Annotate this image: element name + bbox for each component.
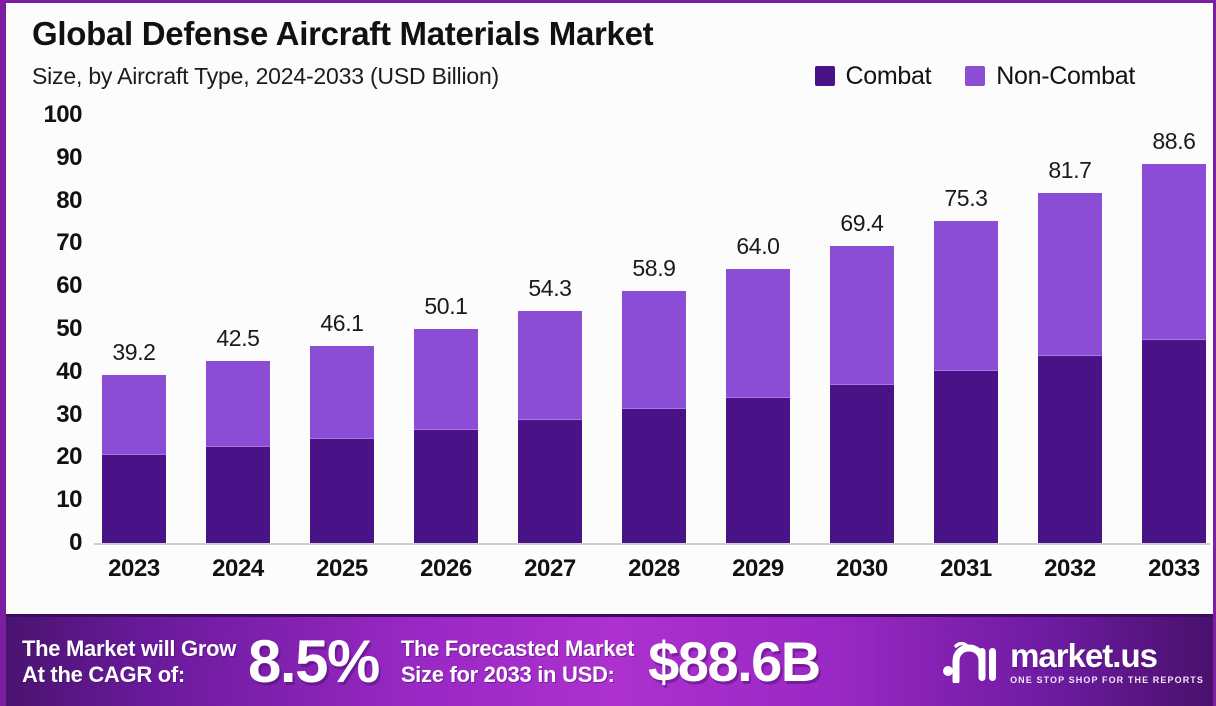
y-axis-tick: 10 xyxy=(56,486,82,514)
bar-segment-combat[interactable] xyxy=(310,439,374,543)
bar-group[interactable]: 75.3 xyxy=(930,115,1002,543)
bar-segment-non-combat[interactable] xyxy=(1142,164,1206,340)
bar-segment-combat[interactable] xyxy=(414,430,478,543)
legend-item-non-combat[interactable]: Non-Combat xyxy=(965,62,1135,91)
forecast-caption-line2: Size for 2033 in USD: xyxy=(401,662,634,688)
bar-segment-non-combat[interactable] xyxy=(1038,193,1102,355)
legend-item-combat[interactable]: Combat xyxy=(815,62,932,91)
x-axis-tick: 2030 xyxy=(826,555,898,583)
bar-value-label: 81.7 xyxy=(1048,157,1091,184)
bar-group[interactable]: 81.7 xyxy=(1034,115,1106,543)
y-axis-tick: 20 xyxy=(56,443,82,471)
bar-stack[interactable] xyxy=(414,329,478,543)
cagr-stat: The Market will Grow At the CAGR of: 8.5… xyxy=(22,627,379,696)
bar-segment-non-combat[interactable] xyxy=(310,346,374,439)
bar-segment-non-combat[interactable] xyxy=(726,269,790,398)
bar-group[interactable]: 39.2 xyxy=(98,115,170,543)
chart-legend: Combat Non-Combat xyxy=(815,62,1135,91)
bar-group[interactable]: 50.1 xyxy=(410,115,482,543)
bar-segment-non-combat[interactable] xyxy=(518,311,582,420)
y-axis-tick: 100 xyxy=(43,101,82,129)
x-axis-tick: 2032 xyxy=(1034,555,1106,583)
bar-value-label: 46.1 xyxy=(320,310,363,337)
bar-segment-combat[interactable] xyxy=(934,371,998,543)
chart-header: Global Defense Aircraft Materials Market… xyxy=(6,3,1213,91)
chart-subtitle: Size, by Aircraft Type, 2024-2033 (USD B… xyxy=(32,63,499,90)
bar-stack[interactable] xyxy=(934,221,998,543)
x-axis-tick: 2025 xyxy=(306,555,378,583)
y-axis-tick: 30 xyxy=(56,401,82,429)
bar-segment-combat[interactable] xyxy=(726,398,790,543)
bar-segment-non-combat[interactable] xyxy=(414,329,478,430)
forecast-caption-line1: The Forecasted Market xyxy=(401,636,634,662)
bar-segment-combat[interactable] xyxy=(518,420,582,543)
brand-logo[interactable]: market.us ONE STOP SHOP FOR THE REPORTS xyxy=(942,639,1204,685)
bar-segment-non-combat[interactable] xyxy=(830,246,894,385)
square-swatch-icon xyxy=(965,66,985,86)
bar-stack[interactable] xyxy=(518,311,582,543)
bar-segment-non-combat[interactable] xyxy=(102,375,166,455)
bar-segment-combat[interactable] xyxy=(1038,356,1102,543)
x-axis-tick: 2026 xyxy=(410,555,482,583)
bar-stack[interactable] xyxy=(622,291,686,543)
bar-stack[interactable] xyxy=(102,375,166,543)
y-axis-tick: 0 xyxy=(69,529,82,557)
y-axis-tick: 40 xyxy=(56,358,82,386)
legend-label-combat: Combat xyxy=(846,62,932,91)
page-title: Global Defense Aircraft Materials Market xyxy=(32,15,1213,53)
footer-banner: The Market will Grow At the CAGR of: 8.5… xyxy=(6,614,1216,706)
x-axis-tick: 2029 xyxy=(722,555,794,583)
bar-segment-combat[interactable] xyxy=(830,385,894,543)
x-axis-tick: 2023 xyxy=(98,555,170,583)
bar-group[interactable]: 54.3 xyxy=(514,115,586,543)
bar-group[interactable]: 88.6 xyxy=(1138,115,1210,543)
bar-segment-non-combat[interactable] xyxy=(206,361,270,447)
subtitle-legend-row: Size, by Aircraft Type, 2024-2033 (USD B… xyxy=(32,62,1213,91)
y-axis-tick: 50 xyxy=(56,315,82,343)
bar-value-label: 69.4 xyxy=(840,210,883,237)
forecast-size-caption: The Forecasted Market Size for 2033 in U… xyxy=(401,636,634,687)
cagr-caption-line1: The Market will Grow xyxy=(22,636,236,662)
bar-value-label: 58.9 xyxy=(632,255,675,282)
bar-stack[interactable] xyxy=(310,346,374,543)
bar-value-label: 42.5 xyxy=(216,325,259,352)
cagr-caption: The Market will Grow At the CAGR of: xyxy=(22,636,236,687)
x-axis-tick: 2028 xyxy=(618,555,690,583)
bar-group[interactable]: 58.9 xyxy=(618,115,690,543)
bar-stack[interactable] xyxy=(1038,193,1102,543)
bar-stack[interactable] xyxy=(830,246,894,543)
bar-stack[interactable] xyxy=(726,269,790,543)
chart-plot-area: 1009080706050403020100 39.242.546.150.15… xyxy=(6,115,1216,605)
bar-value-label: 50.1 xyxy=(424,293,467,320)
bar-group[interactable]: 69.4 xyxy=(826,115,898,543)
bar-series-container: 39.242.546.150.154.358.964.069.475.381.7… xyxy=(98,115,1210,543)
bar-segment-combat[interactable] xyxy=(206,447,270,543)
bar-segment-non-combat[interactable] xyxy=(622,291,686,410)
x-axis: 2023202420252026202720282029203020312032… xyxy=(98,555,1210,583)
forecast-size-stat: The Forecasted Market Size for 2033 in U… xyxy=(401,629,820,694)
x-axis-baseline xyxy=(94,543,1210,545)
x-axis-tick: 2027 xyxy=(514,555,586,583)
cagr-value: 8.5% xyxy=(248,627,379,696)
y-axis: 1009080706050403020100 xyxy=(6,115,94,543)
bar-segment-combat[interactable] xyxy=(622,409,686,543)
y-axis-tick: 80 xyxy=(56,187,82,215)
bar-segment-combat[interactable] xyxy=(1142,340,1206,543)
bar-value-label: 64.0 xyxy=(736,233,779,260)
bar-group[interactable]: 46.1 xyxy=(306,115,378,543)
square-swatch-icon xyxy=(815,66,835,86)
bar-group[interactable]: 64.0 xyxy=(722,115,794,543)
y-axis-tick: 90 xyxy=(56,144,82,172)
cagr-caption-line2: At the CAGR of: xyxy=(22,662,236,688)
bar-group[interactable]: 42.5 xyxy=(202,115,274,543)
brand-text: market.us ONE STOP SHOP FOR THE REPORTS xyxy=(1010,639,1204,685)
bar-segment-combat[interactable] xyxy=(102,455,166,543)
x-axis-tick: 2033 xyxy=(1138,555,1210,583)
bar-value-label: 75.3 xyxy=(944,185,987,212)
bar-value-label: 39.2 xyxy=(112,339,155,366)
legend-label-non-combat: Non-Combat xyxy=(996,62,1135,91)
bar-segment-non-combat[interactable] xyxy=(934,221,998,371)
forecast-size-value: $88.6B xyxy=(648,629,820,694)
y-axis-tick: 60 xyxy=(56,272,82,300)
x-axis-tick: 2031 xyxy=(930,555,1002,583)
bar-value-label: 88.6 xyxy=(1152,128,1195,155)
bar-stack[interactable] xyxy=(206,361,270,543)
bar-stack[interactable] xyxy=(1142,164,1206,543)
brand-tagline: ONE STOP SHOP FOR THE REPORTS xyxy=(1010,675,1204,685)
y-axis-tick: 70 xyxy=(56,229,82,257)
brand-name: market.us xyxy=(1010,639,1204,672)
market-us-logo-icon xyxy=(942,641,998,683)
x-axis-tick: 2024 xyxy=(202,555,274,583)
infographic-root: Global Defense Aircraft Materials Market… xyxy=(0,0,1216,706)
bar-value-label: 54.3 xyxy=(528,275,571,302)
